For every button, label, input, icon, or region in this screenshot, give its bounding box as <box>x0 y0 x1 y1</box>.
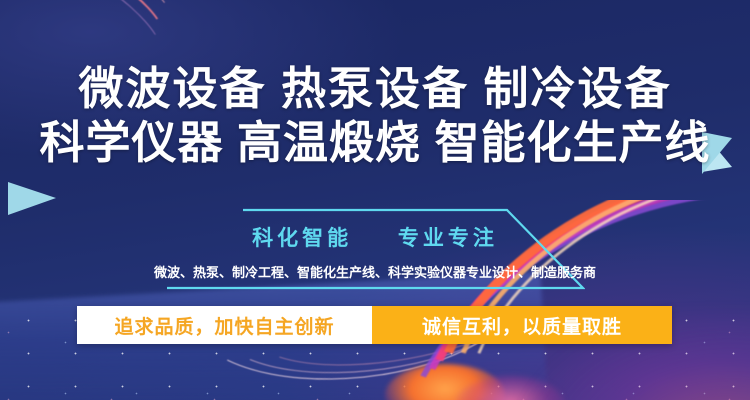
sub-slogan-left: 科化智能 <box>252 227 352 250</box>
sub-slogan: 科化智能 专业专注 <box>0 222 750 252</box>
promotional-banner: 微波设备 热泵设备 制冷设备 科学仪器 高温煅烧 智能化生产线 科化智能 专业专… <box>0 0 750 400</box>
bottom-slogan-bar: 追求品质，加快自主创新 诚信互利，以质量取胜 <box>77 306 672 344</box>
sub-slogan-right: 专业专注 <box>398 227 498 250</box>
bottom-bar-right-segment: 诚信互利，以质量取胜 <box>372 306 672 344</box>
headline-line-2: 科学仪器 高温煅烧 智能化生产线 <box>0 116 750 170</box>
arrow-triangle-left-icon <box>8 182 56 215</box>
headline: 微波设备 热泵设备 制冷设备 科学仪器 高温煅烧 智能化生产线 <box>0 62 750 170</box>
headline-line-1: 微波设备 热泵设备 制冷设备 <box>0 62 750 116</box>
description-line: 微波、热泵、制冷工程、智能化生产线、科学实验仪器专业设计、制造服务商 <box>0 262 750 281</box>
bottom-bar-left-segment: 追求品质，加快自主创新 <box>77 306 372 344</box>
